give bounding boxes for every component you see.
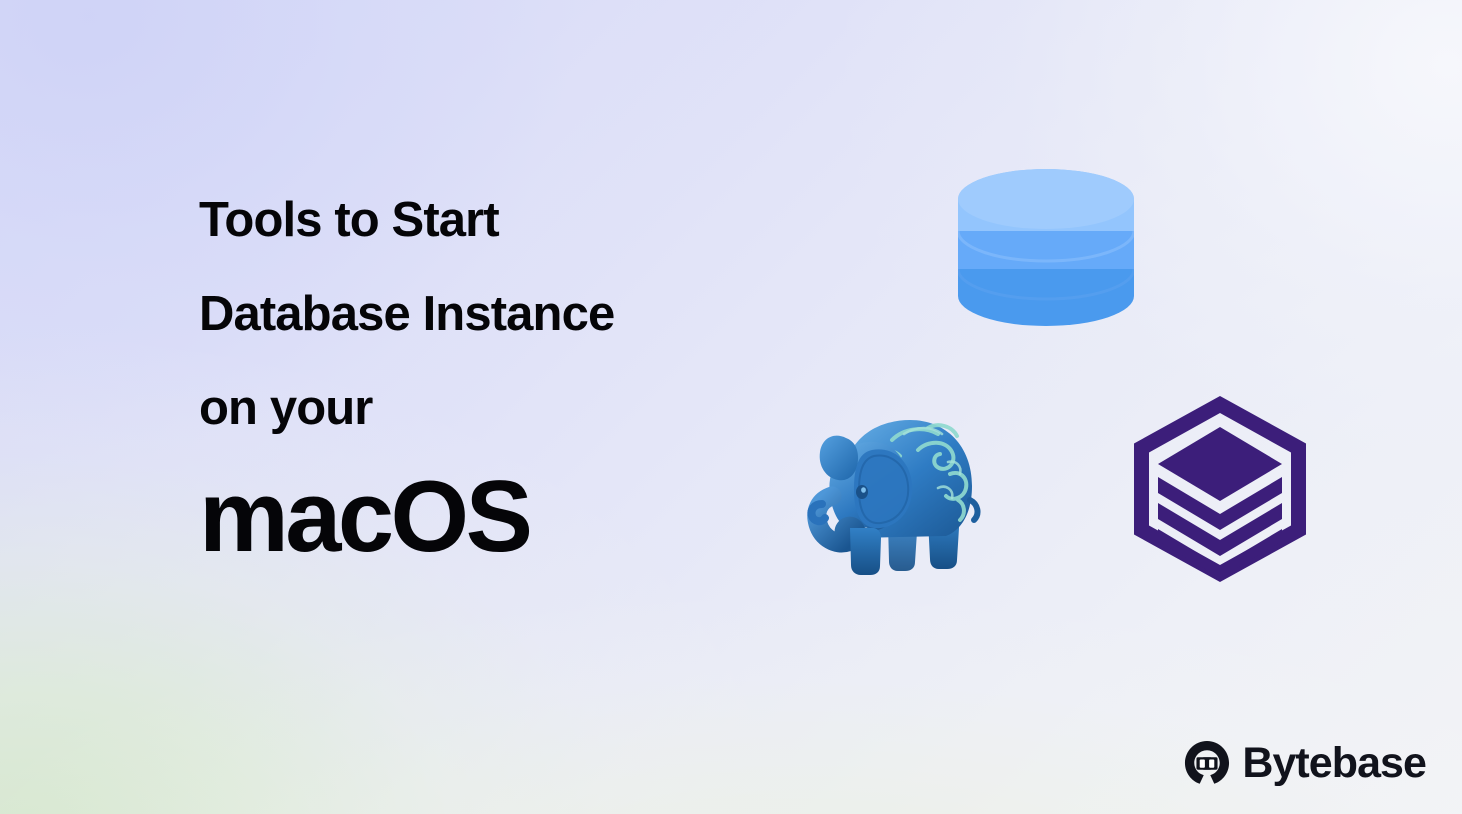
postgresql-elephant-icon xyxy=(800,404,992,582)
headline-line-3: on your xyxy=(199,361,899,455)
bytebase-wordmark: Bytebase xyxy=(1242,742,1426,785)
headline-line-2: Database Instance xyxy=(199,267,899,361)
headline-line-4: macOS xyxy=(199,461,899,573)
database-cylinder-icon xyxy=(958,169,1134,326)
headline-block: Tools to Start Database Instance on your… xyxy=(199,173,899,573)
hexagon-layered-cube-icon xyxy=(1134,396,1306,582)
headline-line-1: Tools to Start xyxy=(199,173,899,267)
bytebase-logo-icon xyxy=(1184,740,1230,786)
banner-canvas: Tools to Start Database Instance on your… xyxy=(0,0,1462,814)
bytebase-brand-lockup: Bytebase xyxy=(1184,740,1426,786)
